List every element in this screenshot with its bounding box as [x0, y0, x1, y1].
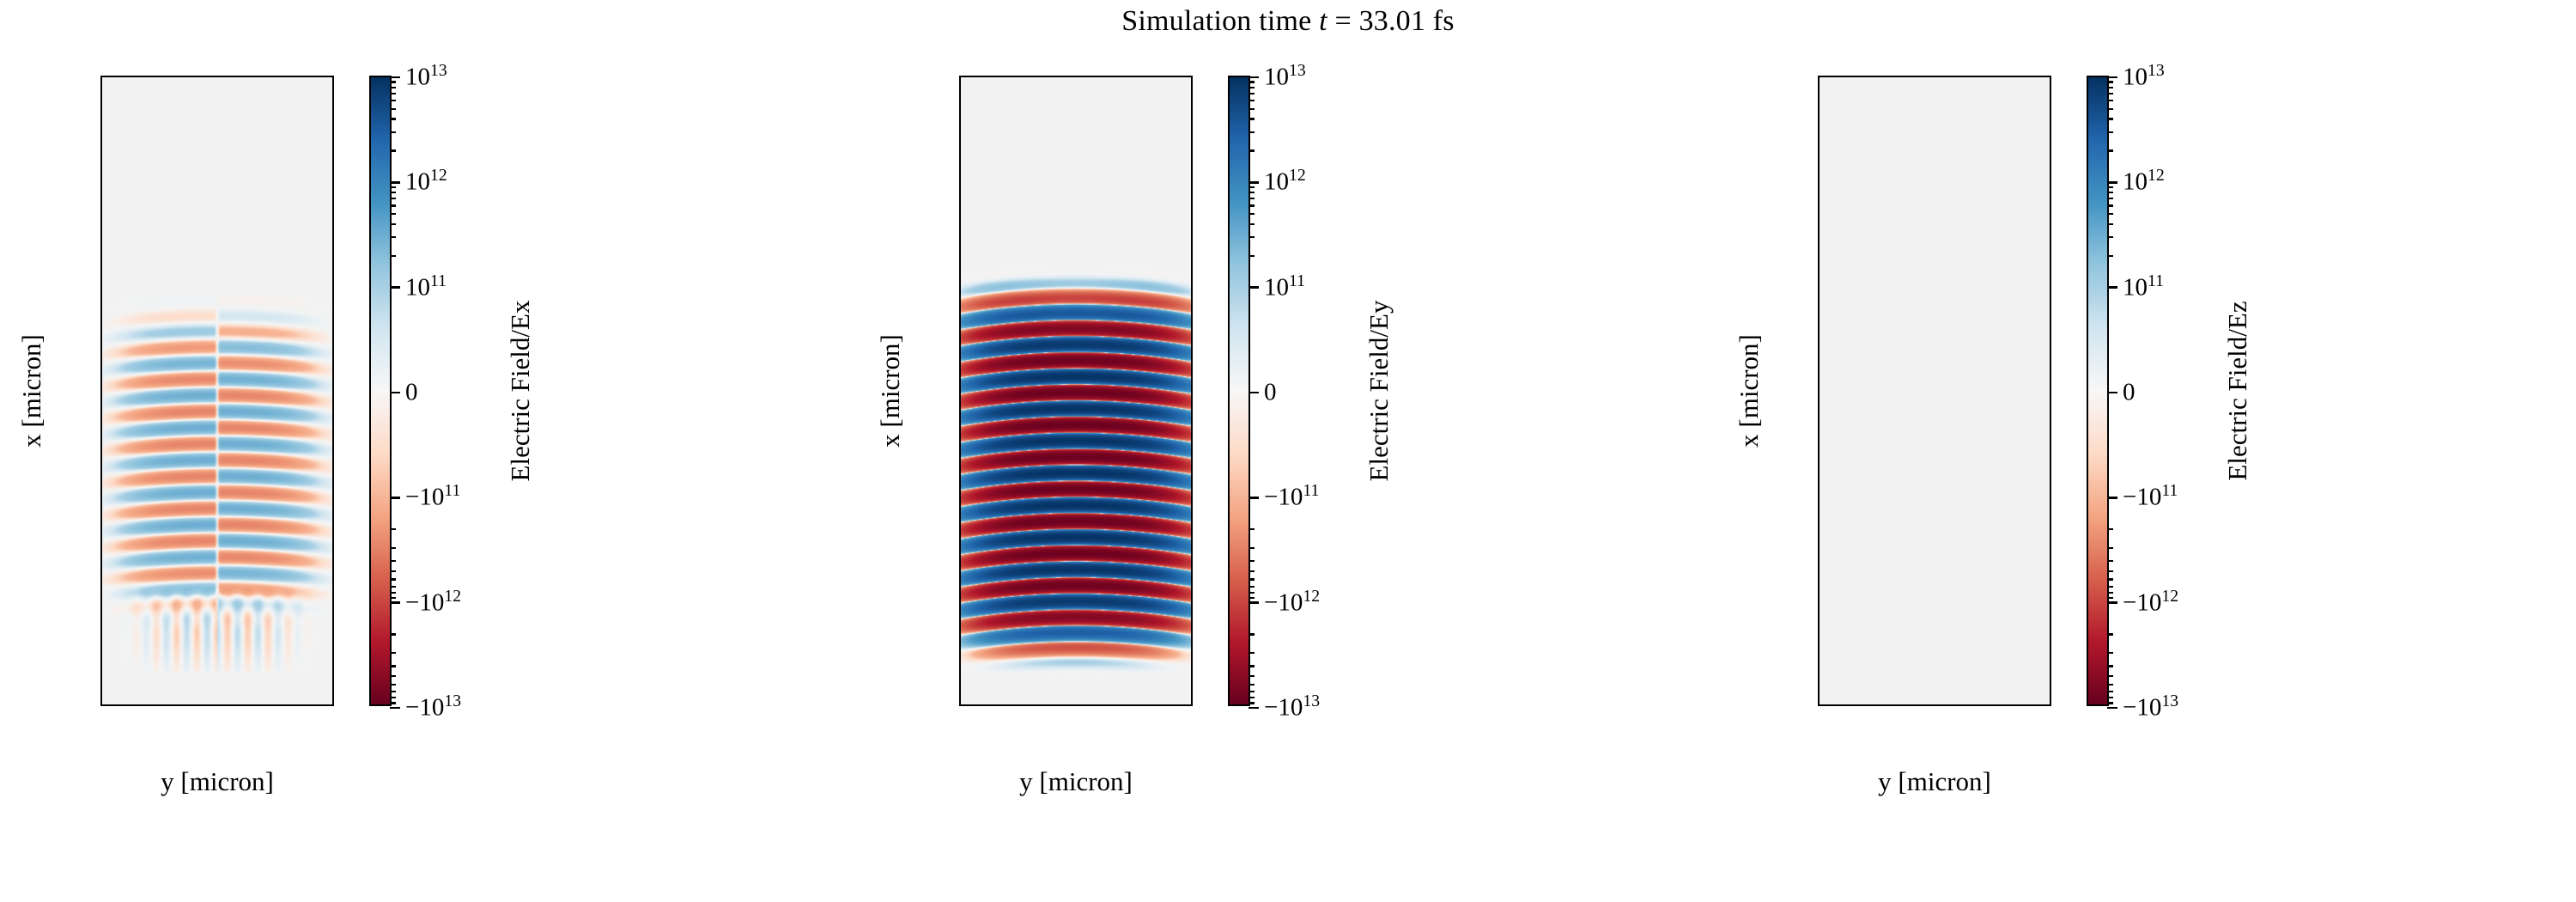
colorbar-tick-label: −1012 — [2123, 588, 2178, 617]
colorbar-tick-label: −1013 — [2123, 694, 2178, 722]
colorbar-tick-label: 1012 — [2123, 168, 2165, 197]
colorbar-tick-minor — [1249, 255, 1255, 257]
subplot-ez: 86420−2−4−6−6−4−20246 1013101210110−1011… — [1717, 0, 2576, 902]
colorbar-tick-minor — [390, 204, 396, 206]
colorbar-tick-minor — [1249, 586, 1255, 588]
colorbar-tick-minor — [2107, 697, 2113, 698]
colorbar-tick-minor — [2107, 547, 2113, 549]
colorbar-tick-minor — [2107, 560, 2113, 562]
colorbar-tick-minor — [2107, 93, 2113, 94]
colorbar-tick-minor — [1249, 702, 1255, 704]
colorbar-gradient-ey — [1230, 77, 1249, 704]
y-axis-label: x [micron] — [1734, 334, 1765, 448]
ytick-minor — [959, 247, 961, 248]
y-axis-label: x [micron] — [875, 334, 906, 448]
colorbar-tick-major — [390, 392, 400, 393]
colorbar-tick-minor — [390, 87, 396, 88]
ytick-minor — [959, 84, 961, 86]
colorbar-tick-major — [390, 601, 400, 603]
colorbar-tick-label: 1013 — [405, 64, 447, 92]
ytick-major — [1818, 125, 1820, 126]
colorbar-tick-label: 1011 — [2123, 273, 2164, 302]
colorbar-tick-minor — [2107, 118, 2113, 119]
ytick-minor — [100, 84, 102, 86]
colorbar-tick-label: 1013 — [2123, 64, 2165, 92]
ytick-major — [959, 610, 961, 612]
ytick-major — [100, 691, 102, 692]
colorbar-tick-minor — [390, 675, 396, 677]
colorbar-tick-label: −1012 — [405, 588, 461, 617]
colorbar-tick-minor — [1249, 192, 1255, 193]
colorbar-tick-minor — [2107, 586, 2113, 588]
ytick-major — [959, 368, 961, 369]
colorbar-tick-minor — [390, 560, 396, 562]
ytick-minor — [100, 570, 102, 571]
colorbar-tick-minor — [390, 665, 396, 667]
ytick-minor — [1818, 165, 1820, 167]
colorbar-tick-label: −1011 — [2123, 484, 2178, 512]
colorbar-tick-minor — [2107, 108, 2113, 110]
colorbar-tick-minor — [2107, 528, 2113, 530]
colorbar-tick-minor — [1249, 597, 1255, 599]
colorbar-tick-major — [1249, 181, 1259, 183]
colorbar-tick-minor — [2107, 149, 2113, 151]
colorbar-tick-major — [390, 181, 400, 183]
ytick-major — [1818, 205, 1820, 207]
colorbar-tick-minor — [1249, 118, 1255, 119]
colorbar-tick-minor — [390, 186, 396, 188]
colorbar-tick-label: 1011 — [1264, 273, 1305, 302]
colorbar-title: Electric Field/Ez — [2222, 301, 2253, 480]
colorbar-tick-minor — [2107, 213, 2113, 215]
subplot-ey: 86420−2−4−6−6−4−20246 1013101210110−1011… — [859, 0, 1717, 902]
x-axis-label: y [micron] — [161, 766, 274, 797]
x-axis-label: y [micron] — [1019, 766, 1133, 797]
colorbar-tick-minor — [390, 93, 396, 94]
colorbar-tick-minor — [1249, 528, 1255, 530]
colorbar-tick-minor — [390, 149, 396, 151]
ytick-minor — [100, 650, 102, 652]
colorbar-tick-minor — [2107, 665, 2113, 667]
ytick-major — [1818, 610, 1820, 612]
ytick-major — [959, 529, 961, 531]
colorbar-tick-minor — [390, 570, 396, 572]
colorbar-tick-minor — [390, 255, 396, 257]
ytick-minor — [1818, 247, 1820, 248]
colorbar-tick-minor — [390, 578, 396, 580]
colorbar-tick-minor — [390, 528, 396, 530]
colorbar-tick-minor — [390, 586, 396, 588]
colorbar-tick-minor — [2107, 578, 2113, 580]
colorbar-tick-minor — [1249, 204, 1255, 206]
colorbar-tick-minor — [1249, 652, 1255, 654]
colorbar-tick-label: 1013 — [1264, 64, 1306, 92]
colorbar-tick-minor — [2107, 684, 2113, 686]
colorbar-tick-minor — [1249, 213, 1255, 215]
colorbar-tick-minor — [390, 702, 396, 704]
colorbar-tick-label: 0 — [405, 379, 418, 407]
ytick-major — [100, 368, 102, 369]
plot-area-ey[interactable]: 86420−2−4−6−6−4−20246 — [959, 76, 1193, 706]
colorbar-tick-label: 0 — [1264, 379, 1277, 407]
ytick-major — [100, 125, 102, 126]
colorbar-tick-label: −1013 — [1264, 694, 1320, 722]
colorbar-tick-label: 1012 — [1264, 168, 1306, 197]
ytick-minor — [1818, 489, 1820, 491]
colorbar-tick-major — [1249, 497, 1259, 498]
colorbar-tick-minor — [2107, 198, 2113, 199]
colorbar-tick-minor — [2107, 236, 2113, 238]
colorbar-ex[interactable]: 1013101210110−1011−1012−1013 — [369, 76, 392, 706]
colorbar-tick-minor — [2107, 87, 2113, 88]
colorbar-tick-minor — [390, 236, 396, 238]
colorbar-tick-label: 1012 — [405, 168, 447, 197]
colorbar-tick-minor — [390, 547, 396, 549]
ytick-minor — [959, 650, 961, 652]
colorbar-tick-major — [390, 497, 400, 498]
heatmap-ex — [102, 77, 332, 704]
colorbar-tick-major — [2107, 601, 2117, 603]
colorbar-tick-minor — [2107, 100, 2113, 101]
ytick-major — [959, 205, 961, 207]
colorbar-tick-minor — [2107, 675, 2113, 677]
colorbar-tick-minor — [1249, 691, 1255, 692]
colorbar-tick-minor — [2107, 597, 2113, 599]
ytick-minor — [959, 489, 961, 491]
ytick-minor — [1818, 84, 1820, 86]
ytick-major — [959, 691, 961, 692]
colorbar-tick-minor — [1249, 665, 1255, 667]
x-axis-label: y [micron] — [1878, 766, 1991, 797]
colorbar-tick-major — [2107, 707, 2117, 709]
colorbar-title: Electric Field/Ex — [505, 301, 536, 482]
ytick-major — [959, 448, 961, 450]
colorbar-tick-minor — [390, 684, 396, 686]
colorbar-tick-minor — [1249, 223, 1255, 225]
ytick-minor — [100, 327, 102, 329]
plot-area-ex[interactable]: 86420−2−4−6−6−4−20246 — [100, 76, 334, 706]
colorbar-tick-minor — [2107, 81, 2113, 82]
colorbar-title: Electric Field/Ey — [1364, 301, 1394, 482]
ytick-minor — [959, 570, 961, 571]
colorbar-tick-label: −1012 — [1264, 588, 1320, 617]
ytick-minor — [959, 408, 961, 410]
colorbar-tick-major — [1249, 601, 1259, 603]
subplot-ex: 86420−2−4−6−6−4−20246 1013101210110−1011… — [0, 0, 859, 902]
colorbar-tick-minor — [390, 108, 396, 110]
ytick-minor — [1818, 408, 1820, 410]
colorbar-tick-minor — [390, 118, 396, 119]
colorbar-tick-label: −1011 — [1264, 484, 1319, 512]
colorbar-tick-minor — [2107, 702, 2113, 704]
ytick-minor — [100, 489, 102, 491]
colorbar-gradient-ez — [2088, 77, 2107, 704]
colorbar-tick-minor — [390, 198, 396, 199]
ytick-major — [959, 125, 961, 126]
colorbar-tick-minor — [2107, 186, 2113, 188]
colorbar-tick-minor — [390, 697, 396, 698]
colorbar-tick-minor — [1249, 578, 1255, 580]
colorbar-tick-minor — [2107, 633, 2113, 635]
colorbar-tick-minor — [2107, 592, 2113, 594]
ytick-major — [959, 287, 961, 289]
colorbar-tick-major — [2107, 392, 2117, 393]
colorbar-ey[interactable]: 1013101210110−1011−1012−1013 — [1228, 76, 1250, 706]
colorbar-tick-minor — [390, 633, 396, 635]
colorbar-tick-minor — [1249, 236, 1255, 238]
ytick-major — [1818, 287, 1820, 289]
colorbar-tick-major — [390, 76, 400, 78]
colorbar-tick-minor — [1249, 697, 1255, 698]
y-axis-label: x [micron] — [16, 334, 47, 448]
colorbar-tick-minor — [1249, 560, 1255, 562]
colorbar-tick-minor — [390, 597, 396, 599]
colorbar-tick-minor — [1249, 592, 1255, 594]
colorbar-ez[interactable]: 1013101210110−1011−1012−1013 — [2087, 76, 2109, 706]
ytick-minor — [1818, 650, 1820, 652]
colorbar-gradient-ex — [371, 77, 390, 704]
ytick-minor — [100, 408, 102, 410]
colorbar-tick-minor — [390, 223, 396, 225]
colorbar-tick-minor — [2107, 131, 2113, 133]
colorbar-tick-minor — [1249, 108, 1255, 110]
colorbar-tick-minor — [1249, 93, 1255, 94]
heatmap-ey — [961, 77, 1191, 704]
colorbar-tick-minor — [390, 691, 396, 692]
ytick-major — [1818, 529, 1820, 531]
ytick-minor — [100, 165, 102, 167]
colorbar-tick-minor — [2107, 192, 2113, 193]
colorbar-tick-major — [1249, 76, 1259, 78]
colorbar-tick-major — [390, 286, 400, 288]
colorbar-tick-label: 0 — [2123, 379, 2136, 407]
colorbar-tick-major — [2107, 181, 2117, 183]
colorbar-tick-major — [1249, 707, 1259, 709]
ytick-major — [1818, 691, 1820, 692]
ytick-major — [1818, 368, 1820, 369]
colorbar-tick-minor — [390, 81, 396, 82]
colorbar-tick-minor — [1249, 87, 1255, 88]
colorbar-tick-major — [2107, 76, 2117, 78]
colorbar-tick-minor — [390, 213, 396, 215]
colorbar-tick-minor — [390, 652, 396, 654]
colorbar-tick-minor — [1249, 186, 1255, 188]
colorbar-tick-major — [2107, 497, 2117, 498]
colorbar-tick-minor — [1249, 570, 1255, 572]
colorbar-tick-minor — [390, 592, 396, 594]
colorbar-tick-minor — [1249, 81, 1255, 82]
colorbar-tick-major — [2107, 286, 2117, 288]
ytick-major — [1818, 448, 1820, 450]
colorbar-tick-minor — [2107, 691, 2113, 692]
ytick-minor — [100, 247, 102, 248]
colorbar-tick-minor — [390, 100, 396, 101]
colorbar-tick-minor — [1249, 684, 1255, 686]
colorbar-tick-minor — [1249, 149, 1255, 151]
colorbar-tick-minor — [1249, 547, 1255, 549]
colorbar-tick-minor — [2107, 204, 2113, 206]
colorbar-tick-minor — [1249, 131, 1255, 133]
colorbar-tick-minor — [1249, 675, 1255, 677]
colorbar-tick-major — [1249, 392, 1259, 393]
colorbar-tick-minor — [2107, 652, 2113, 654]
ytick-major — [100, 287, 102, 289]
ytick-minor — [1818, 570, 1820, 571]
ytick-major — [100, 529, 102, 531]
ytick-major — [100, 610, 102, 612]
colorbar-tick-minor — [1249, 198, 1255, 199]
colorbar-tick-minor — [2107, 570, 2113, 572]
colorbar-tick-label: −1011 — [405, 484, 460, 512]
ytick-minor — [1818, 327, 1820, 329]
colorbar-tick-minor — [1249, 633, 1255, 635]
colorbar-tick-minor — [390, 131, 396, 133]
ytick-major — [100, 448, 102, 450]
ytick-minor — [959, 327, 961, 329]
colorbar-tick-major — [1249, 286, 1259, 288]
heatmap-ez — [1820, 77, 2050, 704]
colorbar-tick-minor — [2107, 255, 2113, 257]
colorbar-tick-minor — [1249, 100, 1255, 101]
colorbar-tick-major — [390, 707, 400, 709]
colorbar-tick-label: −1013 — [405, 694, 461, 722]
ytick-minor — [959, 165, 961, 167]
colorbar-tick-minor — [2107, 223, 2113, 225]
plot-area-ez[interactable]: 86420−2−4−6−6−4−20246 — [1818, 76, 2051, 706]
ytick-major — [100, 205, 102, 207]
colorbar-tick-minor — [390, 192, 396, 193]
colorbar-tick-label: 1011 — [405, 273, 447, 302]
